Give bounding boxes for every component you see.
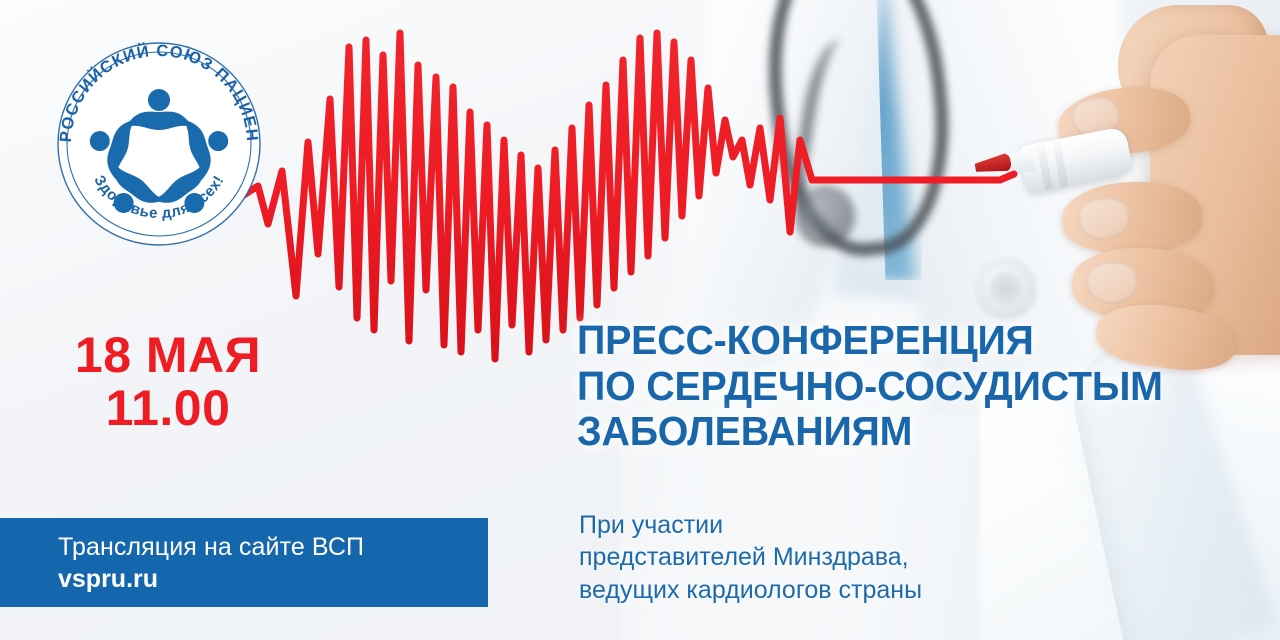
page-subtitle-line-2: представителей Минздрава, bbox=[579, 541, 1219, 573]
event-time: 11.00 bbox=[28, 383, 308, 434]
vsp-logo: ВСЕРОССИЙСКИЙ СОЮЗ ПАЦИЕНТОВ Здоровье дл… bbox=[53, 38, 265, 250]
page-title-line-3: ЗАБОЛЕВАНИЯМ bbox=[577, 409, 1239, 455]
broadcast-url[interactable]: vspru.ru bbox=[58, 564, 488, 595]
event-datetime: 18 МАЯ 11.00 bbox=[28, 330, 308, 434]
page-subtitle-line-3: ведущих кардиологов страны bbox=[579, 574, 1219, 606]
page-title-line-2: ПО СЕРДЕЧНО-СОСУДИСТЫМ bbox=[577, 364, 1239, 410]
broadcast-label: Трансляция на сайте ВСП bbox=[58, 532, 488, 563]
page-title: ПРЕСС-КОНФЕРЕНЦИЯ ПО СЕРДЕЧНО-СОСУДИСТЫМ… bbox=[577, 318, 1239, 455]
broadcast-banner[interactable]: Трансляция на сайте ВСП vspru.ru bbox=[0, 518, 488, 607]
page-subtitle: При участии представителей Минздрава, ве… bbox=[579, 509, 1219, 606]
poster-canvas: ВСЕРОССИЙСКИЙ СОЮЗ ПАЦИЕНТОВ Здоровье дл… bbox=[0, 0, 1280, 640]
event-date: 18 МАЯ bbox=[28, 330, 308, 381]
page-subtitle-line-1: При участии bbox=[579, 509, 1219, 541]
page-title-line-1: ПРЕСС-КОНФЕРЕНЦИЯ bbox=[577, 318, 1239, 364]
